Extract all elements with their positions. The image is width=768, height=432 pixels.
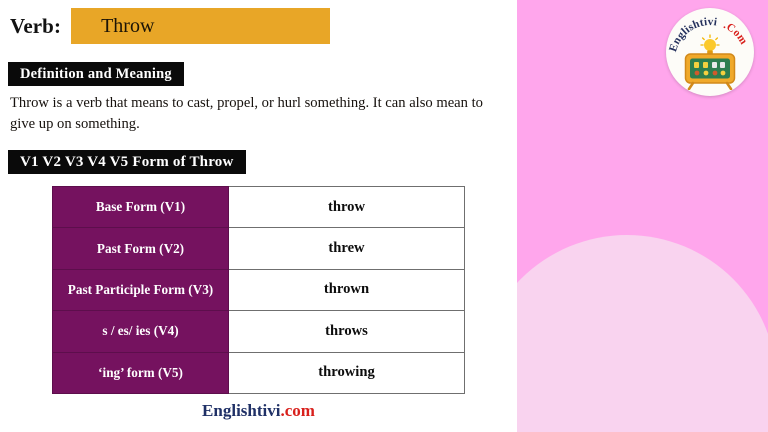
verb-forms-table: Base Form (V1) throw Past Form (V2) thre… — [52, 186, 465, 394]
table-row: Past Participle Form (V3) thrown — [53, 269, 465, 310]
lesson-card: Englishtivi .Com — [0, 0, 768, 432]
form-label: ‘ing’ form (V5) — [53, 352, 229, 393]
englishtivi-logo-badge[interactable]: Englishtivi .Com — [666, 8, 754, 96]
logo-brand-suffix: .Com — [722, 19, 750, 47]
form-value: threw — [229, 228, 465, 269]
footer-brand-name: Englishtivi — [202, 401, 280, 420]
form-value: throwing — [229, 352, 465, 393]
table-row: Past Form (V2) threw — [53, 228, 465, 269]
footer-brand[interactable]: Englishtivi.com — [0, 401, 517, 421]
forms-section-badge: V1 V2 V3 V4 V5 Form of Throw — [8, 150, 246, 174]
definition-text: Throw is a verb that means to cast, prop… — [10, 93, 510, 135]
form-label: Past Participle Form (V3) — [53, 269, 229, 310]
svg-text:.Com: .Com — [722, 19, 750, 47]
verb-heading-row: Verb: Throw — [10, 8, 330, 44]
table-row: ‘ing’ form (V5) throwing — [53, 352, 465, 393]
form-label: Base Form (V1) — [53, 187, 229, 228]
tv-chalkboard-icon — [684, 52, 736, 90]
form-label: s / es/ ies (V4) — [53, 311, 229, 352]
form-value: throw — [229, 187, 465, 228]
verb-forms-table-body: Base Form (V1) throw Past Form (V2) thre… — [53, 187, 465, 394]
verb-label: Verb: — [10, 8, 71, 44]
footer-brand-suffix: .com — [280, 401, 314, 420]
form-label: Past Form (V2) — [53, 228, 229, 269]
form-value: thrown — [229, 269, 465, 310]
definition-section-badge: Definition and Meaning — [8, 62, 184, 86]
table-row: s / es/ ies (V4) throws — [53, 311, 465, 352]
decorative-circle — [517, 235, 768, 432]
form-value: throws — [229, 311, 465, 352]
table-row: Base Form (V1) throw — [53, 187, 465, 228]
verb-value-chip: Throw — [71, 8, 330, 44]
